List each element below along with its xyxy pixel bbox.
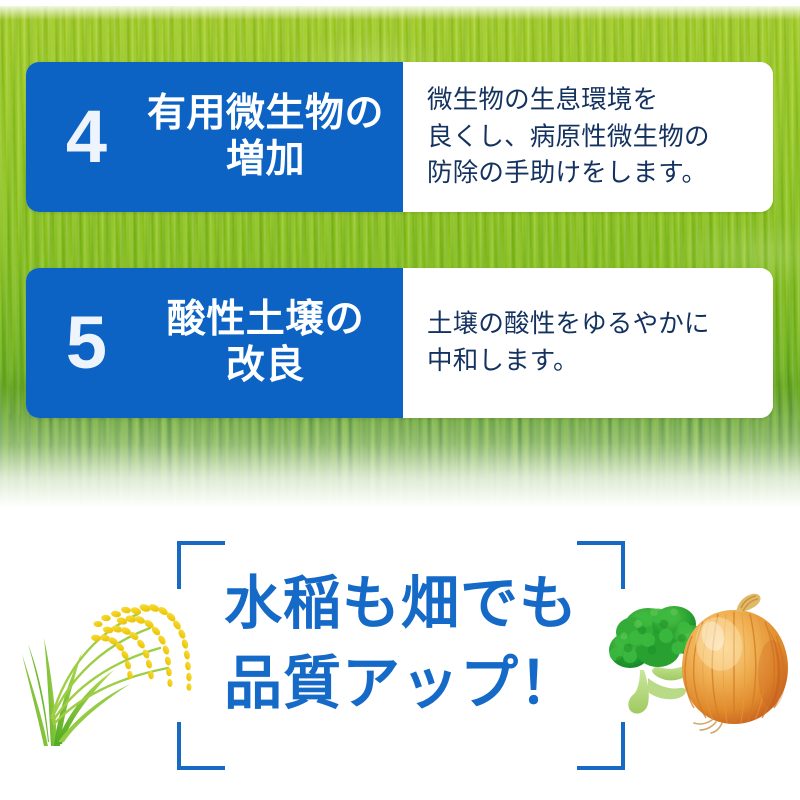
benefit-card-4-desc-line-2: 良くし、病原性微生物の [427, 119, 759, 156]
benefit-card-4-title: 有用微生物の 増加 [132, 91, 403, 183]
benefit-card-5-number: 5 [40, 306, 132, 380]
benefit-card-4-title-line-1: 有用微生物の [132, 91, 399, 137]
banner-headline: 水稲も畑でも 品質アップ！ [177, 564, 625, 724]
vegetables-illustration [586, 578, 792, 738]
onion-illustration [682, 594, 788, 733]
benefit-card-5-description: 土壌の酸性をゆるやかに 中和します。 [403, 268, 773, 418]
banner-headline-line-1: 水稲も畑でも [177, 564, 625, 644]
benefit-card-4-desc-line-3: 防除の手助けをします。 [427, 155, 759, 192]
benefit-card-4-number: 4 [40, 100, 132, 174]
banner-headline-line-2: 品質アップ！ [177, 644, 625, 724]
rice-plant-illustration [18, 566, 208, 756]
benefit-card-5-title: 酸性土壌の 改良 [132, 297, 403, 389]
benefit-card-5: 5 酸性土壌の 改良 土壌の酸性をゆるやかに 中和します。 [26, 268, 773, 418]
benefit-card-5-desc-line-1: 土壌の酸性をゆるやかに [427, 306, 759, 343]
benefit-card-5-header: 5 酸性土壌の 改良 [26, 268, 403, 418]
poster-canvas: 4 有用微生物の 増加 微生物の生息環境を 良くし、病原性微生物の 防除の手助け… [0, 0, 800, 800]
benefit-card-4-description: 微生物の生息環境を 良くし、病原性微生物の 防除の手助けをします。 [403, 62, 773, 212]
benefit-card-4-header: 4 有用微生物の 増加 [26, 62, 403, 212]
grass-top-fade [0, 6, 800, 20]
benefit-card-4-title-line-2: 増加 [132, 137, 399, 183]
benefit-card-4: 4 有用微生物の 増加 微生物の生息環境を 良くし、病原性微生物の 防除の手助け… [26, 62, 773, 212]
benefit-card-4-desc-line-1: 微生物の生息環境を [427, 82, 759, 119]
benefit-card-5-title-line-1: 酸性土壌の [132, 297, 399, 343]
benefit-card-5-desc-line-2: 中和します。 [427, 343, 759, 380]
benefit-card-5-title-line-2: 改良 [132, 343, 399, 389]
